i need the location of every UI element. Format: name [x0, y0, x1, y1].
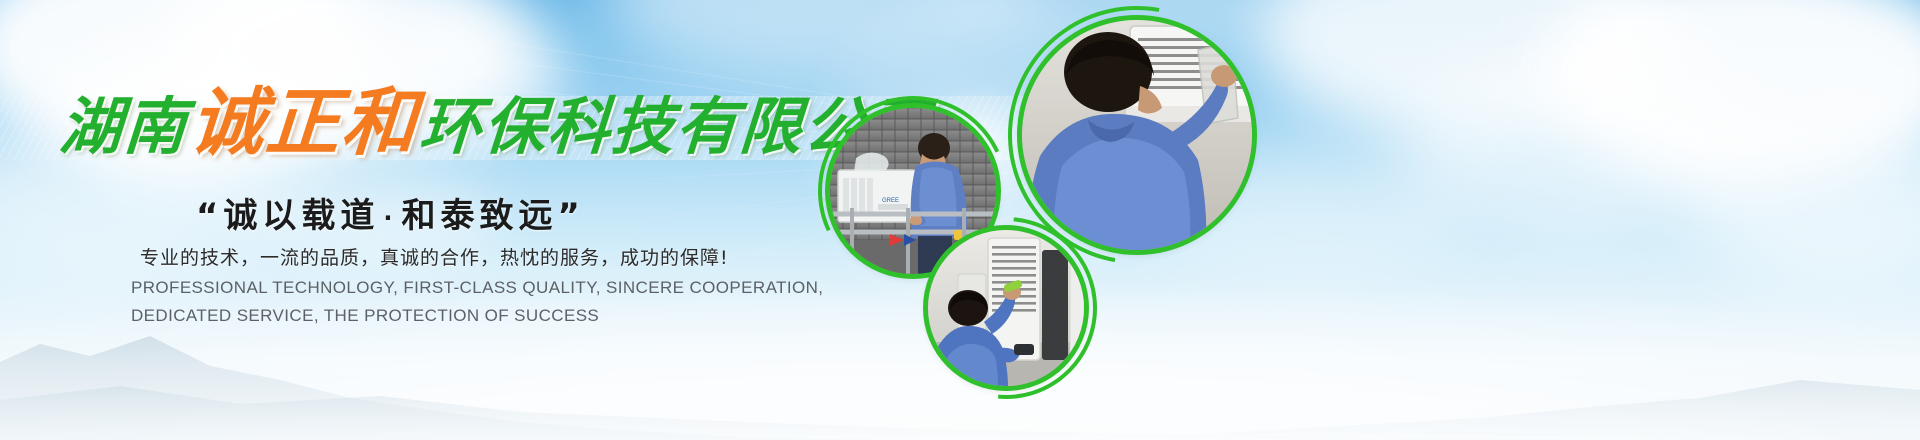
photo-technician-cleaning-units — [928, 230, 1084, 386]
slogan-separator: · — [379, 204, 401, 232]
slogan-part-2: 和泰致远 — [401, 196, 557, 236]
svg-text:GREE: GREE — [882, 198, 899, 204]
slogan-close-quote: ” — [557, 196, 584, 236]
company-slogan: “诚以载道·和泰致远” — [196, 188, 585, 237]
company-title-prefix: 湖南 — [58, 96, 190, 158]
slogan-part-1: 诚以载道 — [223, 196, 379, 236]
subtitle-english-line-1: PROFESSIONAL TECHNOLOGY, FIRST-CLASS QUA… — [131, 278, 823, 298]
subtitle-chinese: 专业的技术，一流的品质，真诚的合作，热忱的服务，成功的保障! — [140, 243, 729, 270]
photo-technician-servicing-wall-unit — [1022, 20, 1252, 250]
slogan-open-quote: “ — [196, 196, 223, 236]
site-banner: 湖南诚正和环保科技有限公司 “诚以载道·和泰致远” 专业的技术，一流的品质，真诚… — [0, 0, 1920, 440]
company-title-highlight: 诚正和 — [187, 86, 420, 160]
subtitle-english-line-2: DEDICATED SERVICE, THE PROTECTION OF SUC… — [131, 306, 599, 326]
banner-text-block: 湖南诚正和环保科技有限公司 “诚以载道·和泰致远” 专业的技术，一流的品质，真诚… — [0, 0, 900, 440]
photo-collage: GREE — [800, 0, 1360, 440]
